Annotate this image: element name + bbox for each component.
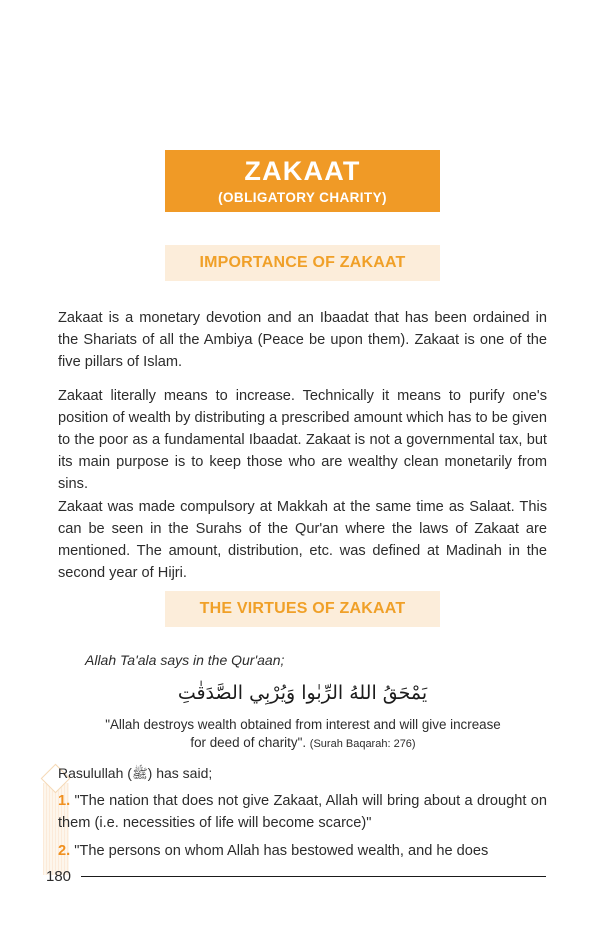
list-item-1-text: "The nation that does not give Zakaat, A… — [58, 793, 547, 831]
body-paragraph-2: Zakaat literally means to increase. Tech… — [58, 385, 547, 496]
quran-quote-intro: Allah Ta'ala says in the Qur'aan; — [85, 652, 284, 668]
body-paragraph-3: Zakaat was made compulsory at Makkah at … — [58, 496, 547, 585]
page-number: 180 — [46, 868, 71, 885]
list-item: 1. "The nation that does not give Zakaat… — [58, 790, 547, 834]
section-heading-importance: IMPORTANCE OF ZAKAAT — [165, 245, 440, 281]
list-item-2-number: 2. — [58, 843, 70, 859]
hadith-intro-suffix: ) has said; — [148, 765, 213, 781]
quran-translation-line-1: "Allah destroys wealth obtained from int… — [105, 717, 501, 732]
section-heading-importance-label: IMPORTANCE OF ZAKAAT — [199, 254, 405, 272]
quran-translation: "Allah destroys wealth obtained from int… — [78, 716, 528, 753]
body-paragraph-1: Zakaat is a monetary devotion and an Iba… — [58, 307, 547, 374]
hadith-intro: Rasulullah (ﷺ) has said; — [58, 765, 212, 785]
footer-divider — [81, 876, 546, 877]
section-heading-virtues: THE VIRTUES OF ZAKAAT — [165, 591, 440, 627]
quran-citation: (Surah Baqarah: 276) — [310, 738, 416, 750]
section-heading-virtues-label: THE VIRTUES OF ZAKAAT — [200, 600, 406, 618]
chapter-title: ZAKAAT — [244, 157, 360, 185]
sallallahu-alayhi-wasallam-icon: ﷺ — [132, 767, 148, 782]
quran-translation-line-2: for deed of charity". — [190, 735, 306, 750]
document-page: ZAKAAT (OBLIGATORY CHARITY) IMPORTANCE O… — [0, 0, 607, 936]
list-item: 2. "The persons on whom Allah has bestow… — [58, 840, 547, 862]
list-item-1-number: 1. — [58, 793, 70, 809]
list-item-2-text: "The persons on whom Allah has bestowed … — [74, 843, 488, 859]
quran-arabic-verse: يَمْحَقُ اللهُ الرِّبٰوا وَيُرْبِي الصَّ… — [58, 678, 547, 708]
chapter-subtitle: (OBLIGATORY CHARITY) — [218, 190, 387, 205]
hadith-intro-prefix: Rasulullah ( — [58, 765, 132, 781]
chapter-title-banner: ZAKAAT (OBLIGATORY CHARITY) — [165, 150, 440, 212]
page-footer: 180 — [46, 868, 546, 885]
